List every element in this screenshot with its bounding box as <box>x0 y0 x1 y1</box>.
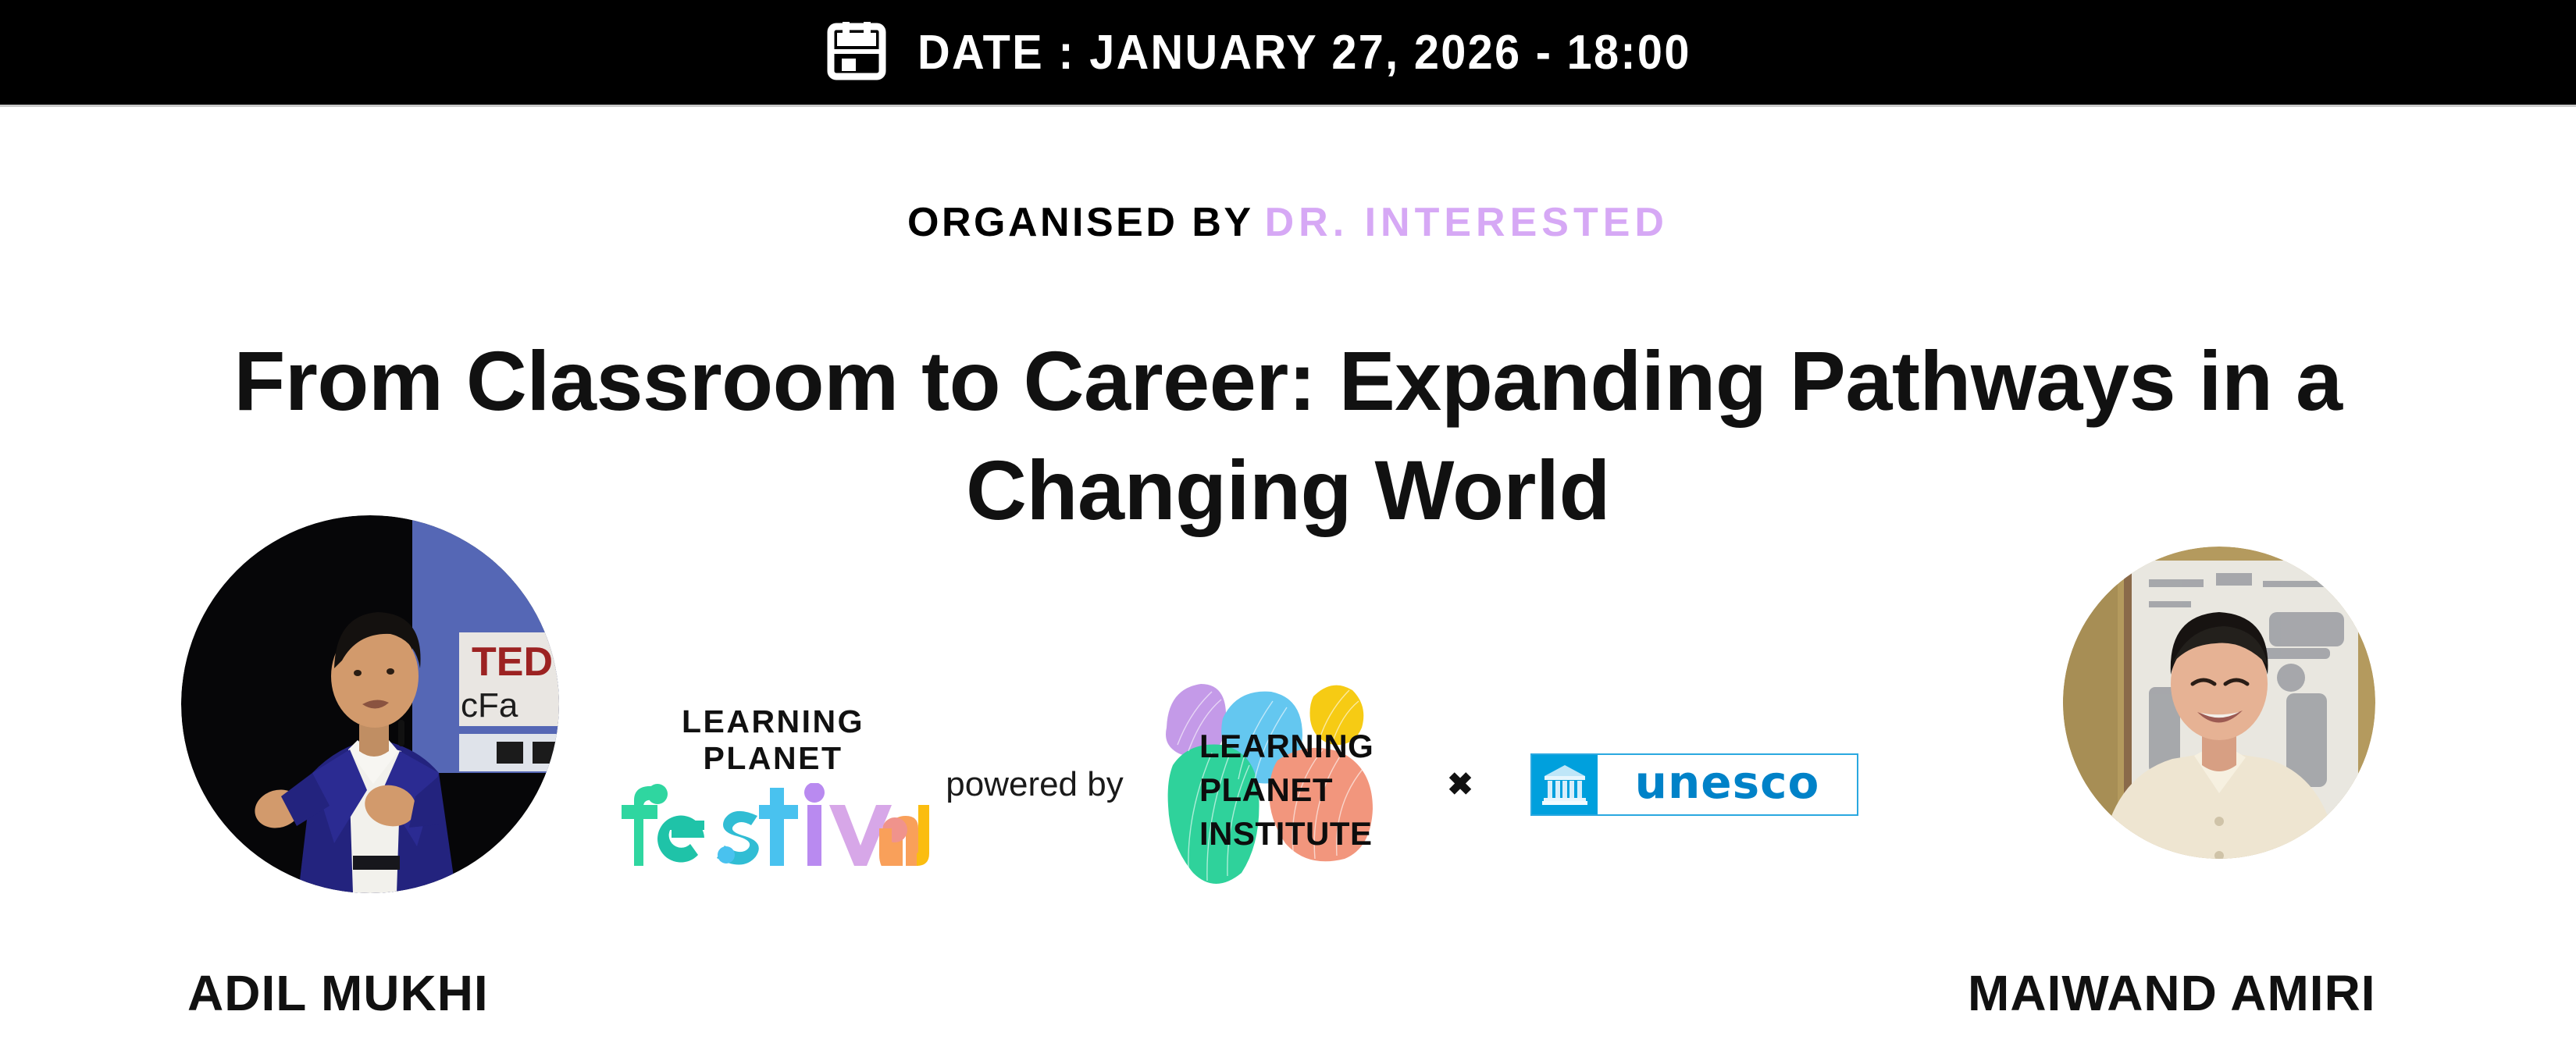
speaker-photo-maiwand-amiri <box>2063 547 2375 859</box>
lpi-blob-mark: LEARNING PLANET INSTITUTE <box>1140 664 1390 906</box>
event-title: From Classroom to Career: Expanding Path… <box>164 326 2413 546</box>
unesco-logo: unesco <box>1530 753 1858 816</box>
date-bar: DATE : JANUARY 27, 2026 - 18:00 <box>0 0 2576 107</box>
festival-wordmark <box>617 783 929 866</box>
speaker-name-left: ADIL MUKHI <box>187 964 489 1022</box>
calendar-icon <box>827 20 886 81</box>
lpi-line-1: LEARNING <box>1199 728 1374 764</box>
learning-planet-institute-logo: LEARNING PLANET INSTITUTE <box>1140 664 1390 906</box>
organiser-name: DR. INTERESTED <box>1265 200 1669 245</box>
speaker-name-right: MAIWAND AMIRI <box>1968 964 2376 1022</box>
unesco-mark <box>1532 755 1598 814</box>
organised-by-label: ORGANISED BY <box>907 200 1254 245</box>
adil-mukhi-portrait: TED cFa <box>181 515 559 893</box>
date-text: DATE : JANUARY 27, 2026 - 18:00 <box>917 25 1691 80</box>
greek-temple-icon <box>1542 764 1587 806</box>
learning-planet-festival-logo: LEARNING PLANET <box>617 703 929 866</box>
svg-text:TED: TED <box>472 639 553 685</box>
partner-logo-strip: LEARNING PLANET powered by <box>617 656 1991 913</box>
svg-text:cFa: cFa <box>461 686 518 725</box>
lpi-line-2: PLANET <box>1199 771 1333 808</box>
lpf-top-line: LEARNING PLANET <box>617 703 929 777</box>
speaker-photo-adil-mukhi: TED cFa <box>181 515 559 893</box>
unesco-wordmark: unesco <box>1598 755 1857 814</box>
lpi-line-3: INSTITUTE <box>1199 815 1373 852</box>
partner-separator-icon: ✖ <box>1390 769 1530 800</box>
organised-by-line: ORGANISED BYDR. INTERESTED <box>0 199 2576 246</box>
maiwand-amiri-portrait <box>2063 547 2375 859</box>
powered-by-label: powered by <box>929 765 1140 804</box>
